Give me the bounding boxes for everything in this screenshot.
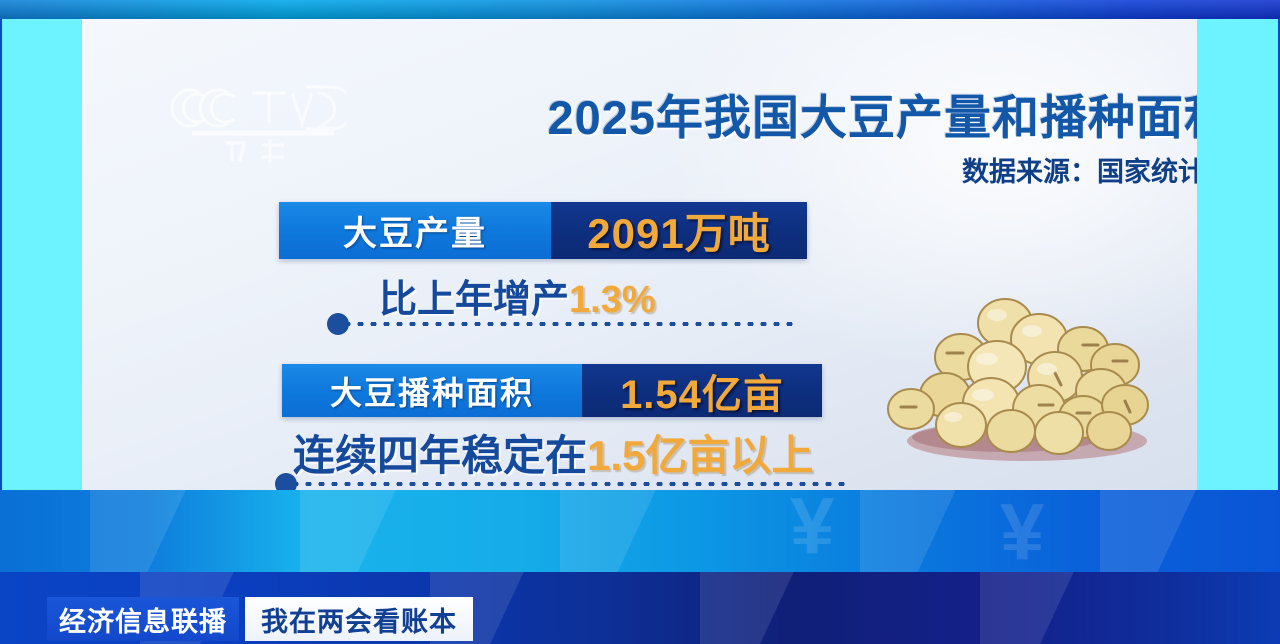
top-bar-shading	[0, 0, 1280, 19]
program-name-badge: 经济信息联播	[47, 597, 239, 641]
broadcast-screen: 2025年我国大豆产量和播种面积 数据来源：国家统计局 大豆产量 2091万吨 …	[0, 0, 1280, 644]
lower-bright-band: ¥ ¥	[0, 490, 1280, 572]
band-chevron	[1100, 490, 1270, 572]
page-title: 2025年我国大豆产量和播种面积	[512, 79, 1197, 148]
band-chevron	[90, 490, 260, 572]
stat-row-sown-area: 大豆播种面积 1.54亿亩	[282, 364, 822, 417]
stat-label-sown-area: 大豆播种面积	[282, 364, 582, 417]
data-source-label: 数据来源：国家统计局	[512, 150, 1197, 189]
bullet-dot-icon	[327, 313, 349, 335]
note-prefix-sown-area: 连续四年稳定在	[293, 432, 587, 479]
soybean-pile-icon	[887, 291, 1157, 466]
band-chevron	[300, 490, 470, 572]
note-number-sown-area: 1.5亿亩以上	[587, 432, 813, 479]
stat-label-production: 大豆产量	[279, 202, 551, 259]
yen-symbol-icon: ¥	[1000, 492, 1045, 572]
band-chevron	[560, 490, 730, 572]
right-cyan-rail	[1197, 19, 1278, 490]
note-production-growth: 比上年增产1.3%	[327, 277, 797, 337]
yen-symbol-icon: ¥	[790, 490, 835, 566]
stat-row-production: 大豆产量 2091万吨	[279, 202, 807, 259]
note-text-production: 比上年增产1.3%	[379, 268, 656, 323]
cctv2-channel-logo-icon	[166, 67, 346, 167]
note-number-production: 1.3%	[569, 279, 656, 321]
top-decoration-bar	[0, 0, 1280, 19]
stat-value-sown-area: 1.54亿亩	[582, 364, 822, 417]
note-sown-area-stability: 连续四年稳定在1.5亿亩以上	[275, 437, 850, 490]
band-chevron	[700, 572, 870, 644]
stat-value-production: 2091万吨	[551, 202, 807, 259]
band-chevron	[980, 572, 1150, 644]
left-cyan-rail	[2, 19, 82, 490]
lower-third: 经济信息联播 我在两会看账本	[47, 597, 473, 641]
note-prefix-production: 比上年增产	[379, 279, 569, 321]
infographic-panel: 2025年我国大豆产量和播种面积 数据来源：国家统计局 大豆产量 2091万吨 …	[82, 19, 1197, 490]
note-text-sown-area: 连续四年稳定在1.5亿亩以上	[293, 422, 813, 483]
topic-badge: 我在两会看账本	[245, 597, 473, 641]
